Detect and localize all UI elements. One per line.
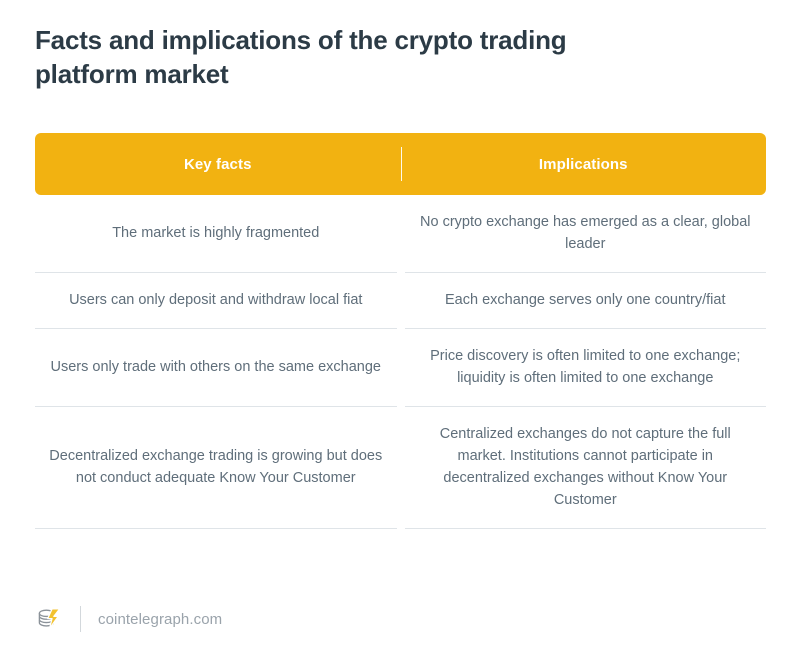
footer-divider xyxy=(80,606,81,632)
page-title: Facts and implications of the crypto tra… xyxy=(35,24,655,92)
table-header-row: Key facts Implications xyxy=(35,133,766,195)
cell-text: Users only trade with others on the same… xyxy=(51,356,381,378)
infographic-card: Facts and implications of the crypto tra… xyxy=(0,0,800,656)
cell-text: Each exchange serves only one country/fi… xyxy=(445,289,726,311)
cell-text: Decentralized exchange trading is growin… xyxy=(49,445,383,489)
cell-implications: Price discovery is often limited to one … xyxy=(405,329,767,407)
column-header-key-facts: Key facts xyxy=(35,156,401,173)
cell-key-facts: Users can only deposit and withdraw loca… xyxy=(35,273,397,329)
facts-implications-table: Key facts Implications The market is hig… xyxy=(35,133,766,529)
cell-text: Price discovery is often limited to one … xyxy=(419,345,753,389)
cointelegraph-logo-icon xyxy=(35,605,63,633)
cell-implications: Centralized exchanges do not capture the… xyxy=(405,407,767,529)
cell-key-facts: Decentralized exchange trading is growin… xyxy=(35,407,397,529)
table-row: Decentralized exchange trading is growin… xyxy=(35,407,766,529)
cell-text: Centralized exchanges do not capture the… xyxy=(419,423,753,511)
cell-text: No crypto exchange has emerged as a clea… xyxy=(419,211,753,255)
column-header-implications: Implications xyxy=(401,156,767,173)
cell-key-facts: Users only trade with others on the same… xyxy=(35,329,397,407)
table-row: The market is highly fragmented No crypt… xyxy=(35,195,766,273)
cell-text: The market is highly fragmented xyxy=(112,222,319,244)
cell-implications: No crypto exchange has emerged as a clea… xyxy=(405,195,767,273)
footer: cointelegraph.com xyxy=(35,602,222,636)
cell-text: Users can only deposit and withdraw loca… xyxy=(69,289,362,311)
footer-site-label: cointelegraph.com xyxy=(98,611,222,628)
header-column-divider xyxy=(401,147,402,181)
cell-implications: Each exchange serves only one country/fi… xyxy=(405,273,767,329)
table-row: Users can only deposit and withdraw loca… xyxy=(35,273,766,329)
cell-key-facts: The market is highly fragmented xyxy=(35,195,397,273)
table-row: Users only trade with others on the same… xyxy=(35,329,766,407)
